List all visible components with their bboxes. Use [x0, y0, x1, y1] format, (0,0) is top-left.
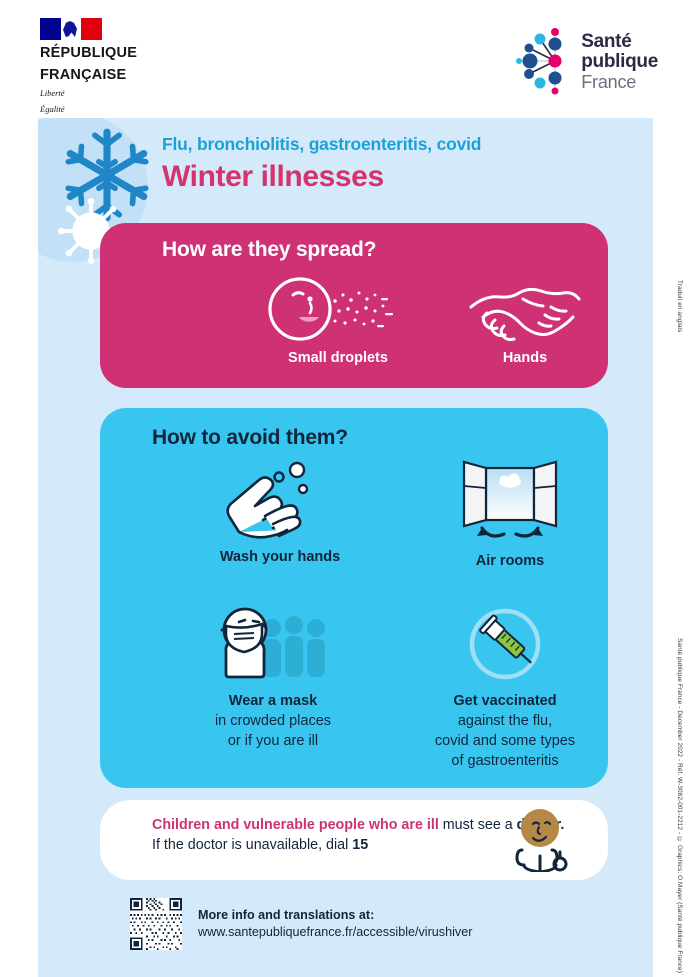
droplets-icon-box	[218, 273, 458, 345]
spf-word-france: France	[581, 73, 658, 91]
motto-liberte: Liberté	[40, 88, 160, 99]
how-avoid-heading: How to avoid them?	[152, 426, 348, 450]
doctor-advice-text: Children and vulnerable people who are i…	[152, 816, 564, 855]
vax-label-line3: covid and some types	[400, 731, 610, 751]
spread-label-hands: Hands	[430, 350, 620, 367]
doctor-with-stethoscope-icon	[506, 808, 574, 872]
spf-wordmark: Santé publique France	[581, 32, 658, 91]
vax-label-line2: against the flu,	[400, 711, 610, 731]
how-avoid-card: How to avoid them?	[100, 408, 608, 788]
sante-publique-france-logo: Santé publique France	[499, 26, 658, 96]
air-rooms-icon-box	[410, 460, 610, 546]
advice-dial-text: If the doctor is unavailable, dial	[152, 837, 352, 853]
washing-hands-icon	[215, 460, 345, 542]
advice-mid-text: must see a	[439, 817, 517, 833]
avoid-item-wash-hands: Wash your hands	[160, 460, 400, 567]
poster-subtitle: Flu, bronchiolitis, gastroenteritis, cov…	[162, 134, 481, 155]
poster-footer: More info and translations at: www.sante…	[130, 898, 472, 950]
open-window-air-icon	[452, 460, 568, 546]
french-flag-marianne-icon	[40, 18, 102, 40]
credit-line: Santé publique France - December 2022 - …	[676, 638, 683, 973]
spf-network-dots-icon	[499, 26, 573, 96]
footer-text-block: More info and translations at: www.sante…	[198, 907, 472, 941]
spf-word-sante: Santé	[581, 32, 658, 51]
syringe-vaccine-icon	[457, 606, 553, 686]
mask-label-line3: or if you are ill	[148, 731, 398, 751]
sneezing-face-droplets-icon	[263, 273, 413, 345]
qr-code-icon[interactable]	[130, 898, 182, 950]
avoid-label-wear-mask: Wear a mask in crowded places or if you …	[148, 691, 398, 751]
wear-mask-icon-box	[148, 606, 398, 686]
advice-line-2: If the doctor is unavailable, dial 15	[152, 836, 564, 856]
avoid-label-wash-hands: Wash your hands	[160, 547, 400, 567]
flag-blue-band	[40, 18, 61, 40]
poster-header: RÉPUBLIQUE FRANÇAISE Liberté Égalité Fra…	[0, 0, 691, 118]
doctor-advice-card: Children and vulnerable people who are i…	[100, 800, 608, 880]
spread-item-hands: Hands	[430, 273, 620, 367]
vaccine-icon-box	[400, 606, 610, 686]
republique-line-2: FRANÇAISE	[40, 68, 160, 84]
mask-label-line1: Wear a mask	[148, 691, 398, 711]
flag-red-band	[81, 18, 102, 40]
handshake-icon	[465, 273, 585, 345]
wash-hands-icon-box	[160, 460, 400, 542]
advice-dial-number: 15	[352, 837, 368, 853]
vax-label-line1: Get vaccinated	[400, 691, 610, 711]
advice-line-1: Children and vulnerable people who are i…	[152, 816, 564, 836]
spf-word-publique: publique	[581, 52, 658, 71]
spread-item-droplets: Small droplets	[218, 273, 458, 367]
hands-icon-box	[430, 273, 620, 345]
advice-pink-text: Children and vulnerable people who are i…	[152, 817, 439, 833]
republique-line-1: RÉPUBLIQUE	[40, 46, 160, 62]
poster-background-panel: Flu, bronchiolitis, gastroenteritis, cov…	[38, 118, 653, 977]
avoid-item-vaccination: Get vaccinated against the flu, covid an…	[400, 606, 610, 771]
how-spread-heading: How are they spread?	[162, 238, 376, 262]
avoid-label-air-rooms: Air rooms	[410, 551, 610, 571]
footer-line-1: More info and translations at:	[198, 907, 472, 924]
mask-label-line2: in crowded places	[148, 711, 398, 731]
poster-title-block: Flu, bronchiolitis, gastroenteritis, cov…	[162, 134, 481, 194]
person-wearing-mask-crowd-icon	[208, 606, 338, 686]
translation-note: Traduit en anglais	[676, 280, 683, 332]
poster-title: Winter illnesses	[162, 160, 481, 194]
avoid-item-wear-mask: Wear a mask in crowded places or if you …	[148, 606, 398, 751]
vax-label-line4: of gastroenteritis	[400, 751, 610, 771]
spread-label-droplets: Small droplets	[218, 350, 458, 367]
motto-egalite: Égalité	[40, 104, 160, 115]
avoid-label-vaccination: Get vaccinated against the flu, covid an…	[400, 691, 610, 771]
how-spread-card: How are they spread?	[100, 223, 608, 388]
republique-francaise-logo: RÉPUBLIQUE FRANÇAISE Liberté Égalité Fra…	[40, 18, 160, 130]
poster-body: Flu, bronchiolitis, gastroenteritis, cov…	[0, 118, 691, 977]
avoid-item-air-rooms: Air rooms	[410, 460, 610, 571]
flag-white-band-marianne	[61, 18, 81, 40]
footer-url[interactable]: www.santepubliquefrance.fr/accessible/vi…	[198, 924, 472, 941]
